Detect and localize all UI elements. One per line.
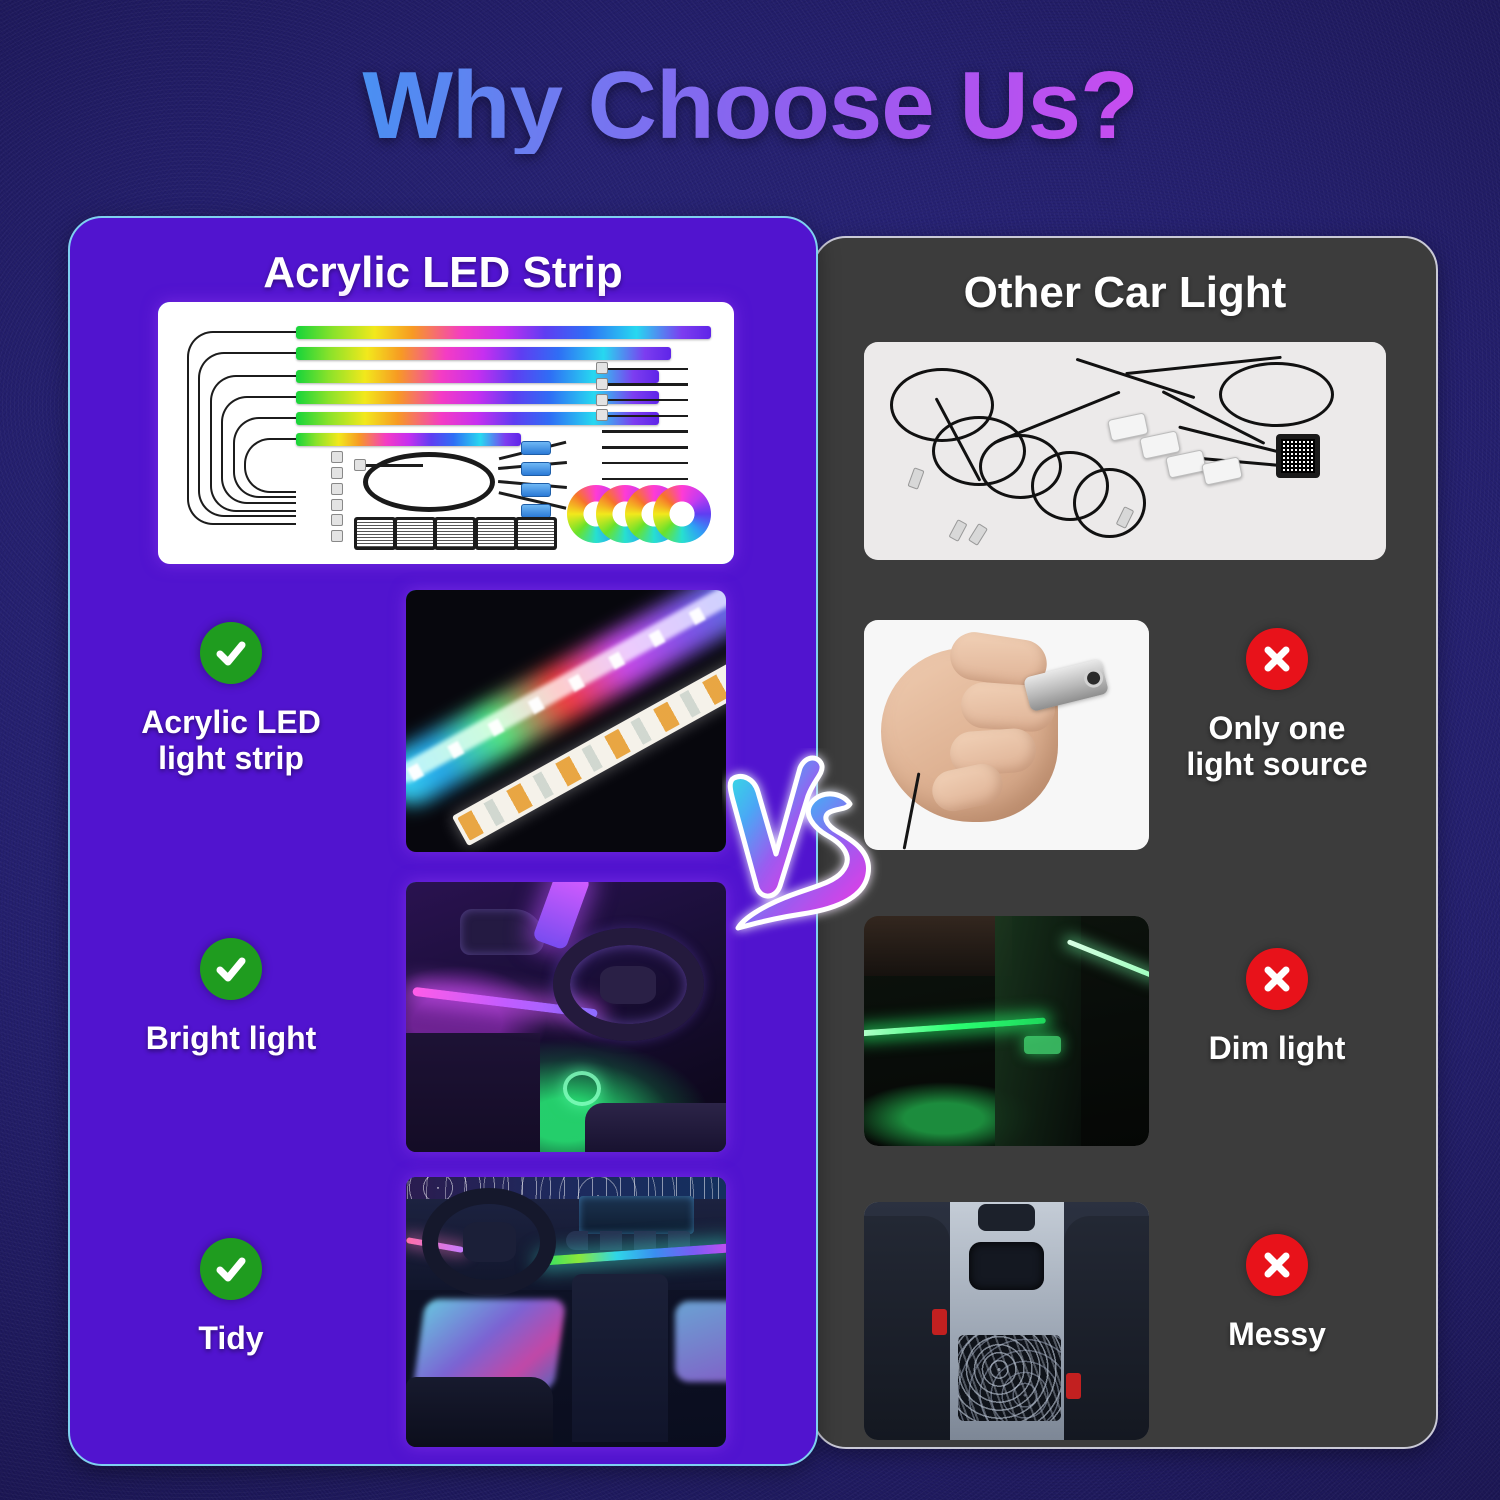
acrylic-feature-3-label: Tidy [106, 1320, 356, 1356]
acrylic-feature-image-1 [406, 590, 726, 852]
cross-icon [1246, 948, 1308, 1010]
cross-icon [1246, 628, 1308, 690]
panel-title-acrylic: Acrylic LED Strip [70, 248, 816, 298]
acrylic-feature-3: Tidy [106, 1238, 356, 1356]
acrylic-hero-image [158, 302, 734, 564]
acrylic-feature-image-2 [406, 882, 726, 1152]
acrylic-feature-2-label: Bright light [106, 1020, 356, 1056]
cross-icon [1246, 1234, 1308, 1296]
acrylic-feature-image-3 [406, 1177, 726, 1447]
vs-badge [722, 748, 882, 948]
other-feature-image-2 [864, 916, 1149, 1146]
acrylic-led-strip-panel: Acrylic LED Strip [68, 216, 818, 1466]
acrylic-feature-1-label: Acrylic LED light strip [106, 704, 356, 777]
check-icon [200, 622, 262, 684]
other-feature-image-1 [864, 620, 1149, 850]
other-feature-1: Only one light source [1152, 628, 1402, 783]
other-feature-3: Messy [1152, 1234, 1402, 1352]
other-feature-2-label: Dim light [1152, 1030, 1402, 1066]
other-feature-1-label: Only one light source [1152, 710, 1402, 783]
other-feature-2: Dim light [1152, 948, 1402, 1066]
other-feature-3-label: Messy [1152, 1316, 1402, 1352]
panel-title-other: Other Car Light [814, 268, 1436, 318]
comparison-panels: Other Car Light [0, 0, 1500, 1500]
check-icon [200, 1238, 262, 1300]
check-icon [200, 938, 262, 1000]
other-car-light-panel: Other Car Light [812, 236, 1438, 1449]
other-hero-image [864, 342, 1386, 560]
acrylic-feature-1: Acrylic LED light strip [106, 622, 356, 777]
acrylic-feature-2: Bright light [106, 938, 356, 1056]
other-feature-image-3 [864, 1202, 1149, 1440]
